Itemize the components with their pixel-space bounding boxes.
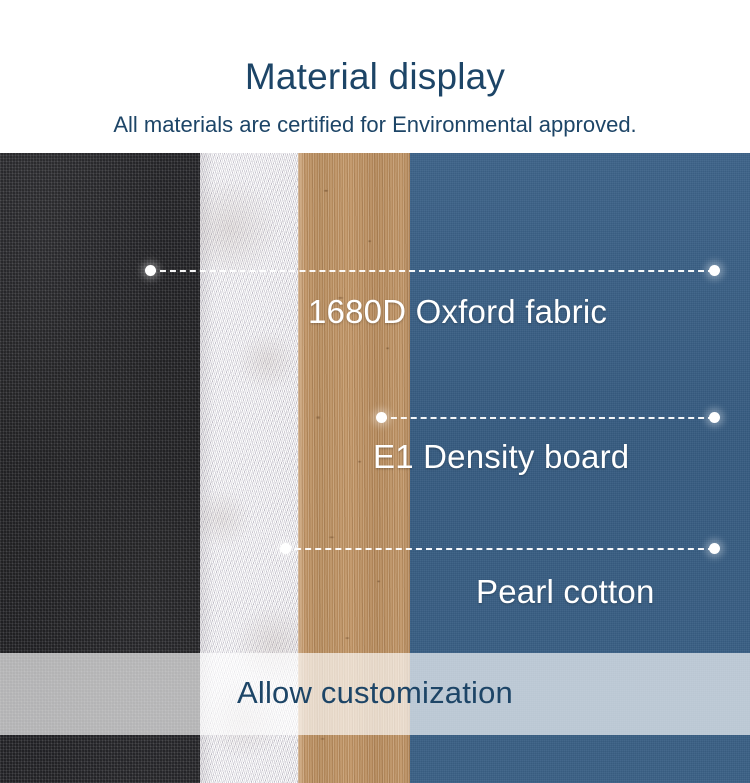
leader-dot-start-oxford-fabric xyxy=(145,265,156,276)
leader-line-oxford-fabric xyxy=(150,270,714,272)
material-display-page: Material display All materials are certi… xyxy=(0,0,750,783)
material-photo: 1680D Oxford fabric E1 Density board Pea… xyxy=(0,153,750,783)
page-subtitle: All materials are certified for Environm… xyxy=(0,111,750,139)
callout-label-pearl-cotton: Pearl cotton xyxy=(476,572,655,612)
leader-line-pearl-cotton xyxy=(285,548,714,550)
customization-banner-text: Allow customization xyxy=(0,671,750,715)
callout-label-density-board: E1 Density board xyxy=(373,437,629,477)
leader-dot-start-pearl-cotton xyxy=(280,543,291,554)
page-title: Material display xyxy=(0,55,750,99)
leader-dot-end-density-board xyxy=(709,412,720,423)
callout-label-oxford-fabric: 1680D Oxford fabric xyxy=(308,292,607,332)
header: Material display All materials are certi… xyxy=(0,0,750,153)
leader-dot-end-pearl-cotton xyxy=(709,543,720,554)
leader-dot-start-density-board xyxy=(376,412,387,423)
leader-line-density-board xyxy=(381,417,714,419)
leader-dot-end-oxford-fabric xyxy=(709,265,720,276)
customization-banner: Allow customization xyxy=(0,653,750,735)
